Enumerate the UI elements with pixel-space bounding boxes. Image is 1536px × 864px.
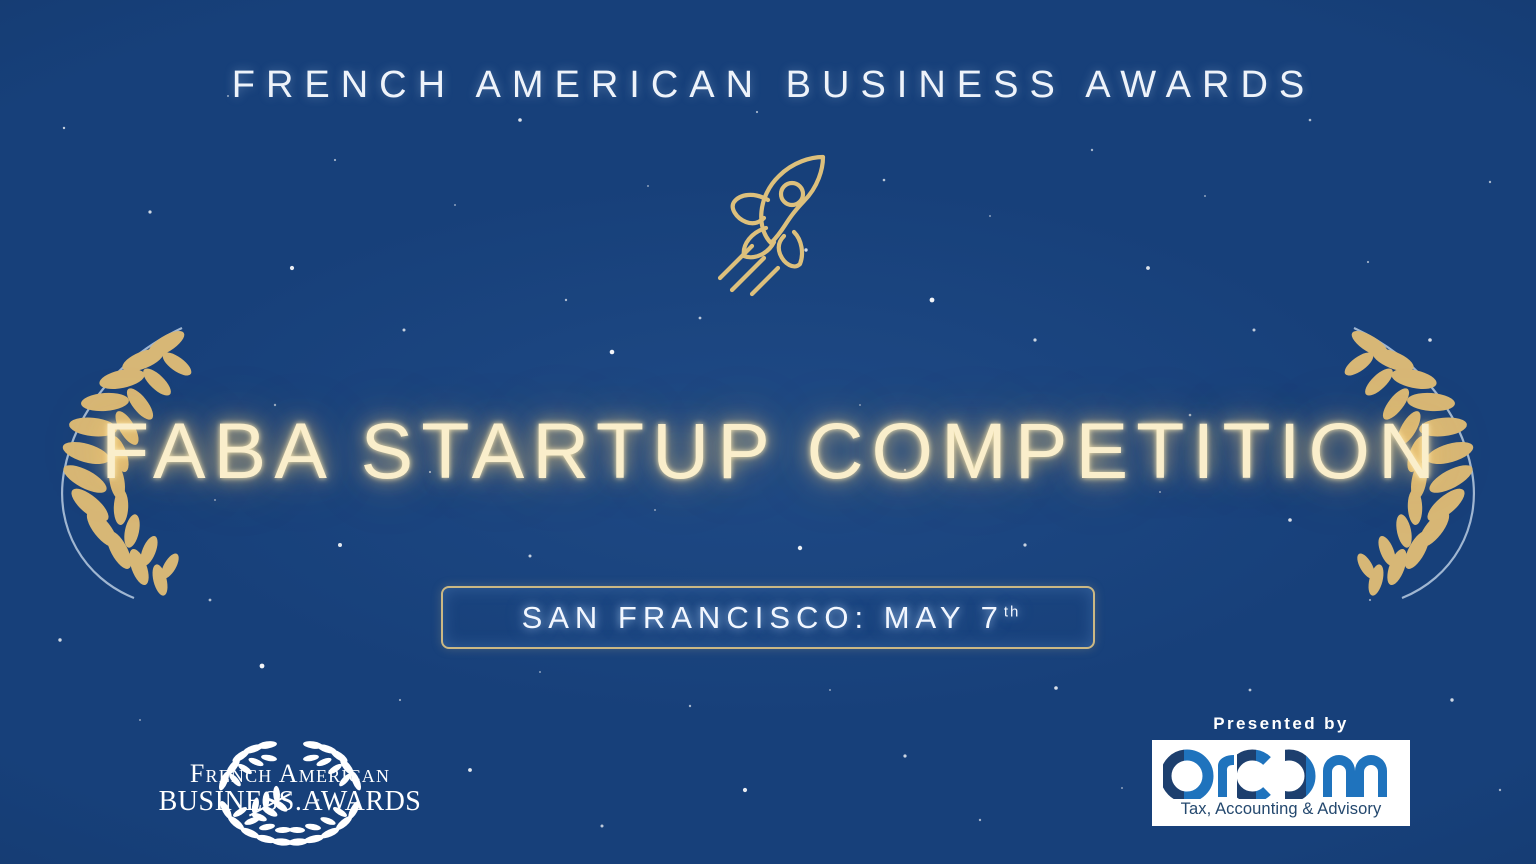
faba-logo-line1: French American — [140, 761, 440, 787]
event-location-date-label: SAN FRANCISCO: MAY 7 — [522, 600, 1004, 635]
faba-logo-line2: BUSINESS.AWARDS — [140, 788, 440, 816]
event-poster: FRENCH AMERICAN BUSINESS AWARDS — [0, 0, 1536, 864]
orcom-tagline: Tax, Accounting & Advisory — [1181, 800, 1382, 819]
page-title: FRENCH AMERICAN BUSINESS AWARDS — [0, 64, 1536, 107]
date-ordinal-suffix: th — [1004, 603, 1021, 620]
event-location-date-text: SAN FRANCISCO: MAY 7th — [516, 600, 1021, 636]
orcom-wordmark-icon — [1163, 749, 1399, 799]
sponsor-block: Presented by — [1152, 714, 1410, 826]
main-headline: FABA STARTUP COMPETITION — [0, 405, 1536, 497]
faba-logo: French American BUSINESS.AWARDS — [140, 738, 440, 850]
presented-by-label: Presented by — [1152, 714, 1410, 734]
event-location-date-banner: SAN FRANCISCO: MAY 7th — [441, 586, 1095, 649]
rocket-icon — [706, 148, 856, 298]
orcom-logo-card: Tax, Accounting & Advisory — [1152, 740, 1410, 826]
faba-logo-text: French American BUSINESS.AWARDS — [140, 761, 440, 816]
